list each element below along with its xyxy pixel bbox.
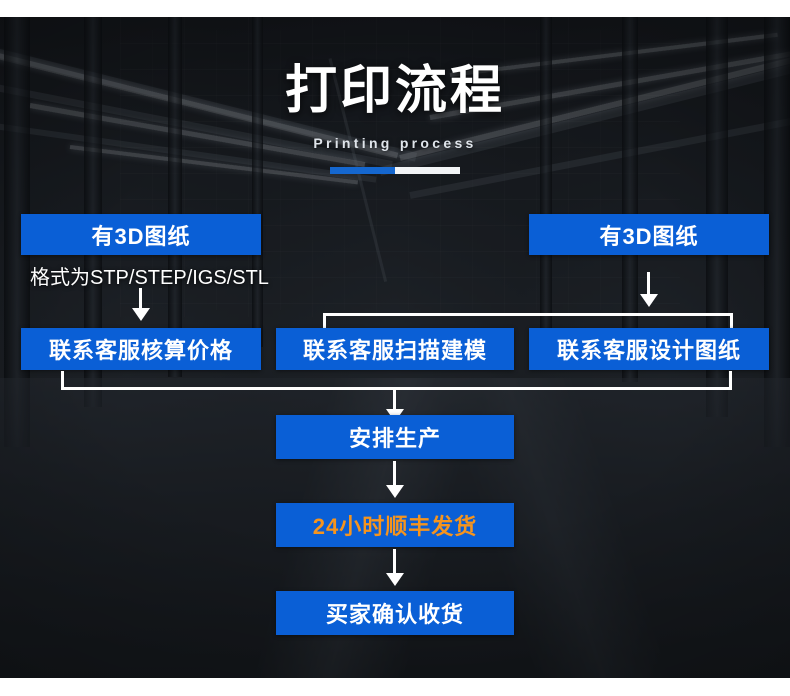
flow-node-quote-price[interactable]: 联系客服核算价格 bbox=[21, 328, 261, 370]
flow-caption-format-note: 格式为STP/STEP/IGS/STL bbox=[30, 261, 269, 290]
flow-node-buyer-confirm[interactable]: 买家确认收货 bbox=[276, 591, 514, 635]
flow-node-scan-model[interactable]: 联系客服扫描建模 bbox=[276, 328, 514, 370]
process-flow-diagram: 有3D图纸 有3D图纸 格式为STP/STEP/IGS/STL 联系客服核算价格… bbox=[0, 0, 790, 696]
arrow-head-down-icon bbox=[386, 573, 404, 586]
connector-line-right-top bbox=[647, 272, 650, 296]
flow-node-ship-24h[interactable]: 24小时顺丰发货 bbox=[276, 503, 514, 547]
connector-line-left-top bbox=[139, 288, 142, 310]
arrow-head-down-icon bbox=[386, 485, 404, 498]
flow-node-arrange-production[interactable]: 安排生产 bbox=[276, 415, 514, 459]
arrow-head-down-icon bbox=[132, 308, 150, 321]
flow-node-has-drawing-right[interactable]: 有3D图纸 bbox=[529, 214, 769, 255]
flow-node-has-drawing-left[interactable]: 有3D图纸 bbox=[21, 214, 261, 255]
flow-node-design-drawing[interactable]: 联系客服设计图纸 bbox=[529, 328, 769, 370]
arrow-head-down-icon bbox=[640, 294, 658, 307]
connector-line-ship-to-confirm bbox=[393, 549, 396, 575]
connector-bracket-row2-merge bbox=[61, 371, 732, 390]
connector-line-production-to-ship bbox=[393, 461, 396, 487]
promo-graphic-flowchart: 打印流程 Printing process 有3D图纸 有3D图纸 格式为STP… bbox=[0, 0, 790, 696]
